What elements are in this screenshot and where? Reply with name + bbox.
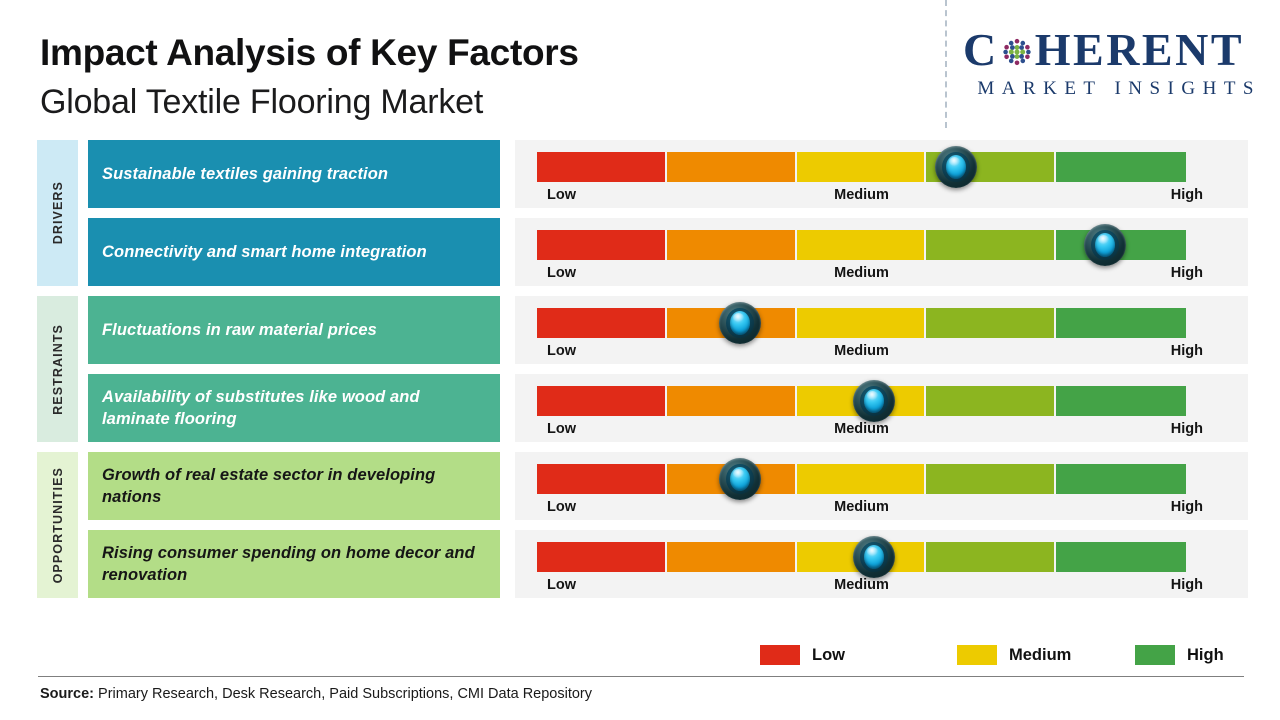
gauge-segment-3: [797, 152, 927, 182]
legend-item-low: Low: [760, 645, 845, 665]
legend: LowMediumHigh: [760, 645, 1210, 675]
scale-label-low: Low: [547, 184, 576, 206]
scale-label-high: High: [1171, 340, 1203, 362]
header: Impact Analysis of Key Factors Global Te…: [0, 0, 1280, 135]
impact-marker[interactable]: [935, 146, 977, 188]
legend-label: Medium: [1009, 646, 1071, 665]
logo-wordmark: C: [963, 26, 1263, 74]
gauge-segment-4: [926, 464, 1056, 494]
gauge-segment-1: [537, 152, 667, 182]
gauge-segment-5: [1056, 152, 1186, 182]
gauge-segment-1: [537, 230, 667, 260]
category-tab-label: RESTRAINTS: [37, 296, 78, 442]
factor-label: Growth of real estate sector in developi…: [88, 464, 500, 508]
gauge-segment-5: [1056, 386, 1186, 416]
logo-brand-prefix: C: [963, 24, 999, 75]
scale-label-high: High: [1171, 418, 1203, 440]
scale-label-high: High: [1171, 184, 1203, 206]
gauge-scale: LowMediumHigh: [537, 184, 1186, 210]
gauge-segment-1: [537, 464, 667, 494]
gauge-segment-4: [926, 386, 1056, 416]
gauge-segment-1: [537, 386, 667, 416]
gauge-bar: [537, 464, 1186, 494]
gauge-scale: LowMediumHigh: [537, 340, 1186, 366]
page-title: Impact Analysis of Key Factors: [40, 28, 579, 78]
factor-box: Growth of real estate sector in developi…: [88, 452, 500, 520]
legend-item-high: High: [1135, 645, 1224, 665]
gauge-segment-1: [537, 542, 667, 572]
source-label: Source:: [40, 686, 94, 702]
legend-label: High: [1187, 646, 1224, 665]
scale-label-low: Low: [547, 262, 576, 284]
infographic-page: Impact Analysis of Key Factors Global Te…: [0, 0, 1280, 720]
impact-gauge: LowMediumHigh: [515, 140, 1248, 208]
logo-brand-suffix: HERENT: [1035, 24, 1244, 75]
impact-marker[interactable]: [719, 458, 761, 500]
gauge-segment-2: [667, 230, 797, 260]
factor-box: Fluctuations in raw material prices: [88, 296, 500, 364]
impact-marker[interactable]: [853, 536, 895, 578]
impact-gauge: LowMediumHigh: [515, 374, 1248, 442]
gauge-segment-4: [926, 230, 1056, 260]
legend-item-medium: Medium: [957, 645, 1071, 665]
scale-label-medium: Medium: [834, 496, 889, 518]
gauge-bar: [537, 308, 1186, 338]
legend-label: Low: [812, 646, 845, 665]
scale-label-high: High: [1171, 574, 1203, 596]
factor-label: Fluctuations in raw material prices: [88, 319, 391, 341]
impact-marker[interactable]: [853, 380, 895, 422]
category-tab-label: DRIVERS: [37, 140, 78, 286]
source-note: Source: Primary Research, Desk Research,…: [40, 684, 592, 704]
scale-label-low: Low: [547, 496, 576, 518]
scale-label-medium: Medium: [834, 184, 889, 206]
factor-label: Sustainable textiles gaining traction: [88, 163, 402, 185]
factor-box: Sustainable textiles gaining traction: [88, 140, 500, 208]
gauge-segment-3: [797, 230, 927, 260]
scale-label-medium: Medium: [834, 340, 889, 362]
gauge-segment-4: [926, 308, 1056, 338]
gauge-segment-5: [1056, 308, 1186, 338]
gauge-segment-3: [797, 464, 927, 494]
impact-gauge: LowMediumHigh: [515, 296, 1248, 364]
source-text: Primary Research, Desk Research, Paid Su…: [94, 686, 592, 702]
scale-label-low: Low: [547, 418, 576, 440]
logo-tagline: MARKET INSIGHTS: [963, 78, 1263, 100]
legend-swatch: [957, 645, 997, 665]
marker-highlight: [1098, 235, 1109, 244]
factor-box: Connectivity and smart home integration: [88, 218, 500, 286]
impact-gauge: LowMediumHigh: [515, 218, 1248, 286]
impact-marker[interactable]: [719, 302, 761, 344]
gauge-segment-3: [797, 308, 927, 338]
factor-box: Rising consumer spending on home decor a…: [88, 530, 500, 598]
marker-highlight: [949, 157, 960, 166]
gauge-segment-2: [667, 542, 797, 572]
category-tab-opportunities: OPPORTUNITIES: [37, 452, 78, 598]
gauge-segment-2: [667, 152, 797, 182]
factor-label: Rising consumer spending on home decor a…: [88, 542, 500, 586]
factor-box: Availability of substitutes like wood an…: [88, 374, 500, 442]
factor-label: Connectivity and smart home integration: [88, 241, 441, 263]
page-subtitle: Global Textile Flooring Market: [40, 78, 579, 126]
scale-label-low: Low: [547, 340, 576, 362]
globe-icon: [1000, 30, 1034, 64]
gauge-segment-4: [926, 542, 1056, 572]
header-divider: [945, 0, 947, 128]
title-block: Impact Analysis of Key Factors Global Te…: [40, 28, 579, 126]
scale-label-high: High: [1171, 496, 1203, 518]
footer-divider: [38, 676, 1244, 677]
scale-label-high: High: [1171, 262, 1203, 284]
category-tab-label: OPPORTUNITIES: [37, 452, 78, 598]
gauge-segment-1: [537, 308, 667, 338]
gauge-bar: [537, 152, 1186, 182]
legend-swatch: [760, 645, 800, 665]
category-tab-restraints: RESTRAINTS: [37, 296, 78, 442]
gauge-segment-5: [1056, 464, 1186, 494]
factor-label: Availability of substitutes like wood an…: [88, 386, 500, 430]
gauge-segment-5: [1056, 542, 1186, 572]
impact-gauge: LowMediumHigh: [515, 530, 1248, 598]
gauge-segment-2: [667, 386, 797, 416]
legend-swatch: [1135, 645, 1175, 665]
coherent-market-insights-logo: C: [963, 26, 1263, 104]
scale-label-medium: Medium: [834, 262, 889, 284]
scale-label-low: Low: [547, 574, 576, 596]
impact-gauge: LowMediumHigh: [515, 452, 1248, 520]
impact-marker[interactable]: [1084, 224, 1126, 266]
gauge-scale: LowMediumHigh: [537, 496, 1186, 522]
category-tab-drivers: DRIVERS: [37, 140, 78, 286]
